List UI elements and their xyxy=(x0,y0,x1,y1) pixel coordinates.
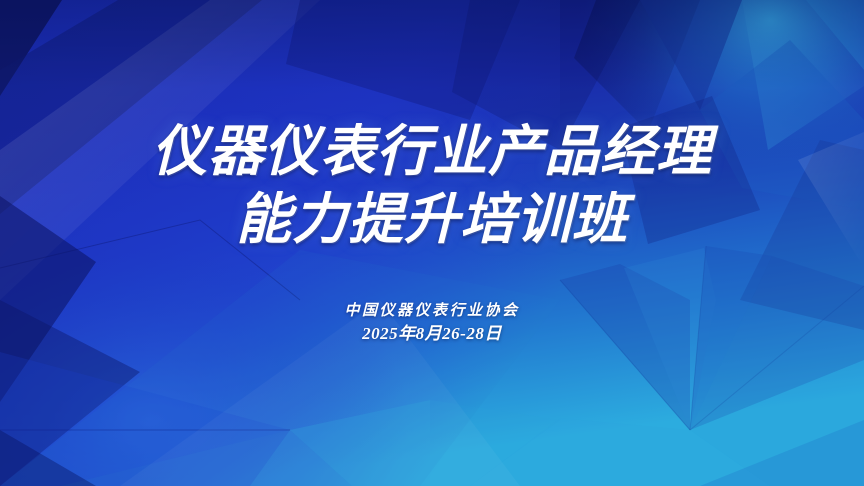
event-date: 2025年8月26-28日 xyxy=(0,322,864,346)
title-line-1: 仪器仪表行业产品经理 xyxy=(0,118,864,186)
title-line-2: 能力提升培训班 xyxy=(0,186,864,254)
main-title: 仪器仪表行业产品经理 能力提升培训班 xyxy=(0,118,864,254)
slide-content: 仪器仪表行业产品经理 能力提升培训班 中国仪器仪表行业协会 2025年8月26-… xyxy=(0,0,864,486)
organization-name: 中国仪器仪表行业协会 xyxy=(0,300,864,322)
subtitle-block: 中国仪器仪表行业协会 2025年8月26-28日 xyxy=(0,300,864,346)
title-slide: 仪器仪表行业产品经理 能力提升培训班 中国仪器仪表行业协会 2025年8月26-… xyxy=(0,0,864,486)
